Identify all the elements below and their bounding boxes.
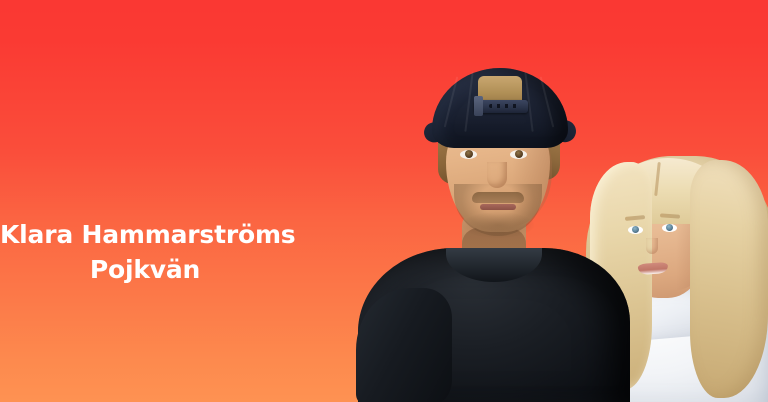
man-cap-strap-holes — [489, 104, 521, 108]
man-figure — [350, 52, 660, 402]
man-nose — [487, 162, 507, 188]
banner-canvas: Klara Hammarströms Pojkvän — [0, 0, 768, 402]
man-chin-shadow — [462, 212, 534, 238]
page-title-line-1: Klara Hammarströms — [0, 218, 290, 253]
man-mouth — [480, 204, 516, 210]
page-title-line-2: Pojkvän — [0, 253, 290, 288]
man-moustache — [472, 192, 524, 203]
page-title: Klara Hammarströms Pojkvän — [0, 218, 290, 287]
woman-eye-right — [662, 224, 677, 232]
man-eye-right — [510, 150, 527, 159]
couple-photo — [330, 0, 768, 402]
man-eye-left — [460, 150, 477, 159]
man-cap-buckle — [474, 96, 483, 116]
woman-hair-front-right — [690, 160, 768, 398]
